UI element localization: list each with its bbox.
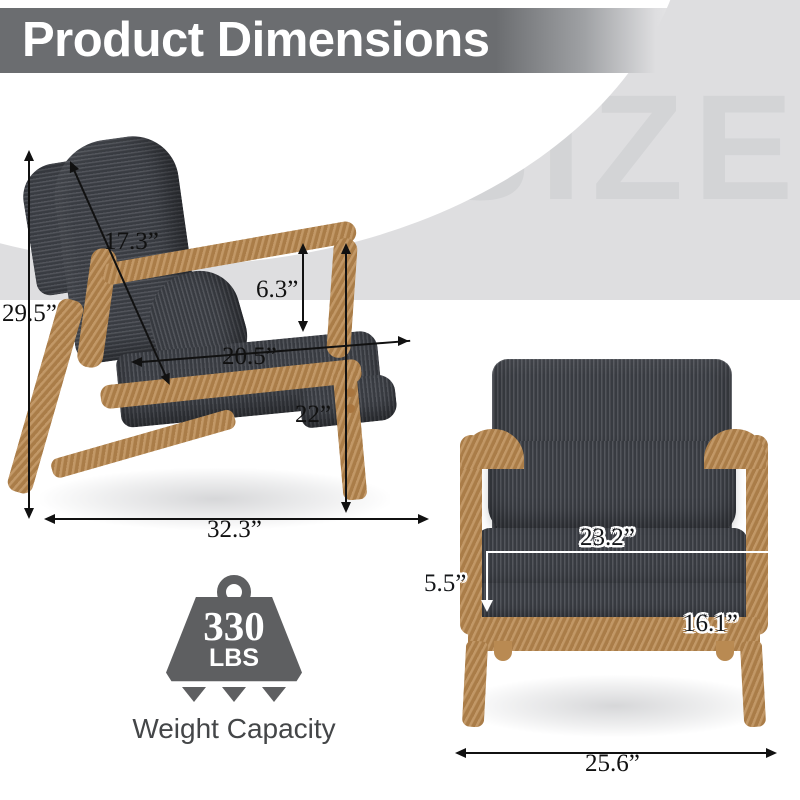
dim-backrest-height-label: 17.3” [104,228,159,256]
front-rear-leg-nub-right [716,641,734,661]
dim-cushion-thickness-label: 5.5” [424,570,466,598]
dim-arm-height-above-seat-label: 6.3” [256,276,298,304]
side-frame-dowel-lower [346,404,355,413]
front-rear-leg-nub-left [494,641,512,661]
front-left-leg [462,640,488,727]
dim-seat-depth-front-label: 16.1” [683,610,738,638]
dim-seat-depth-label: 20.5” [222,343,277,371]
infographic-canvas: SIZE Product Dimensions [0,0,800,800]
dim-overall-depth-label: 32.3” [207,516,262,544]
dim-overall-width-label: 25.6” [585,750,640,778]
weight-capacity-caption: Weight Capacity [112,713,356,745]
front-lumbar-pillow [488,441,736,534]
dim-overall-height-label: 29.5” [2,300,57,328]
weight-arrow-2 [222,687,246,702]
front-right-leg [740,640,766,727]
dim-seat-width-label: 23.2” [580,524,635,552]
chair-front-view [450,345,780,765]
page-title: Product Dimensions [22,10,489,70]
weight-arrows-group [166,687,302,705]
front-view-floor-shadow [460,675,770,737]
dim-arm-height-label: 22” [295,401,331,429]
weight-arrow-3 [262,687,286,702]
weight-capacity-badge: 330 LBS Weight Capacity [166,575,302,755]
side-frame-dowel-upper [346,388,355,397]
weight-arrow-1 [182,687,206,702]
weight-capacity-unit: LBS [166,645,302,671]
chair-side-view [0,120,430,540]
weight-capacity-number: 330 [166,605,302,647]
